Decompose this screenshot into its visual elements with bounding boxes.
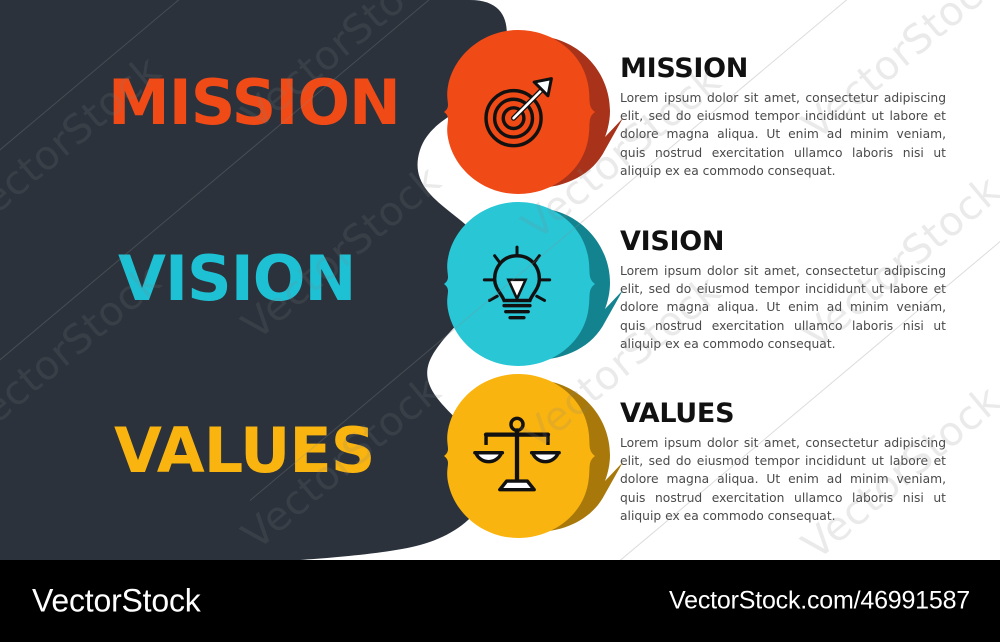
section-vision: VISION Lorem ipsum dolor sit amet, conse…	[620, 228, 946, 353]
footer-bar: VectorStock VectorStock.com/46991587	[0, 560, 1000, 642]
target-icon	[474, 70, 560, 156]
scales-icon	[474, 414, 560, 500]
section-title-mission: MISSION	[620, 55, 946, 82]
badge-values[interactable]	[440, 366, 620, 546]
badge-vision[interactable]	[440, 194, 620, 374]
vectorstock-url: VectorStock.com/46991587	[669, 587, 970, 616]
section-title-values: VALUES	[620, 400, 946, 427]
section-mission: MISSION Lorem ipsum dolor sit amet, cons…	[620, 55, 946, 180]
section-body-mission: Lorem ipsum dolor sit amet, consectetur …	[620, 89, 946, 180]
infographic-canvas: MISSION VISION VALUES	[0, 0, 1000, 560]
section-body-vision: Lorem ipsum dolor sit amet, consectetur …	[620, 262, 946, 353]
badge-mission[interactable]	[440, 22, 620, 202]
section-body-values: Lorem ipsum dolor sit amet, consectetur …	[620, 434, 946, 525]
vectorstock-logo: VectorStock	[32, 583, 201, 620]
section-title-vision: VISION	[620, 228, 946, 255]
left-heading-mission: MISSION	[108, 72, 400, 134]
left-heading-vision: VISION	[118, 248, 355, 310]
lightbulb-icon	[474, 242, 560, 328]
left-heading-values: VALUES	[114, 420, 374, 482]
section-values: VALUES Lorem ipsum dolor sit amet, conse…	[620, 400, 946, 525]
